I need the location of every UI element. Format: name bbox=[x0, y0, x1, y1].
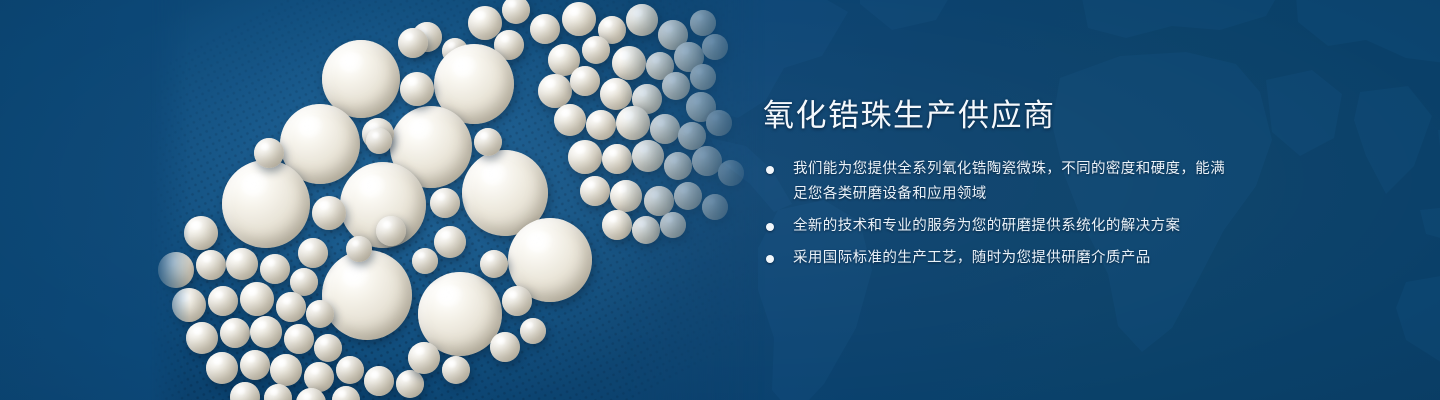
hero-banner: 氧化锆珠生产供应商 我们能为您提供全系列氧化锆陶瓷微珠，不同的密度和硬度，能满足… bbox=[0, 0, 1440, 400]
bullet-dot-icon bbox=[766, 223, 774, 231]
bullet-text: 我们能为您提供全系列氧化锆陶瓷微珠，不同的密度和硬度，能满足您各类研磨设备和应用… bbox=[793, 161, 1225, 202]
bullet-item: 全新的技术和专业的服务为您的研磨提供系统化的解决方案 bbox=[763, 214, 1233, 239]
bullet-item: 我们能为您提供全系列氧化锆陶瓷微珠，不同的密度和硬度，能满足您各类研磨设备和应用… bbox=[763, 157, 1233, 207]
bullet-dot-icon bbox=[766, 166, 774, 174]
banner-headline: 氧化锆珠生产供应商 bbox=[763, 96, 1233, 136]
bullet-text: 全新的技术和专业的服务为您的研磨提供系统化的解决方案 bbox=[793, 218, 1180, 234]
bullet-text: 采用国际标准的生产工艺，随时为您提供研磨介质产品 bbox=[793, 250, 1151, 266]
banner-bullet-list: 我们能为您提供全系列氧化锆陶瓷微珠，不同的密度和硬度，能满足您各类研磨设备和应用… bbox=[763, 157, 1233, 271]
bullet-dot-icon bbox=[766, 255, 774, 263]
bullet-item: 采用国际标准的生产工艺，随时为您提供研磨介质产品 bbox=[763, 246, 1233, 271]
banner-copy: 氧化锆珠生产供应商 我们能为您提供全系列氧化锆陶瓷微珠，不同的密度和硬度，能满足… bbox=[763, 96, 1233, 271]
